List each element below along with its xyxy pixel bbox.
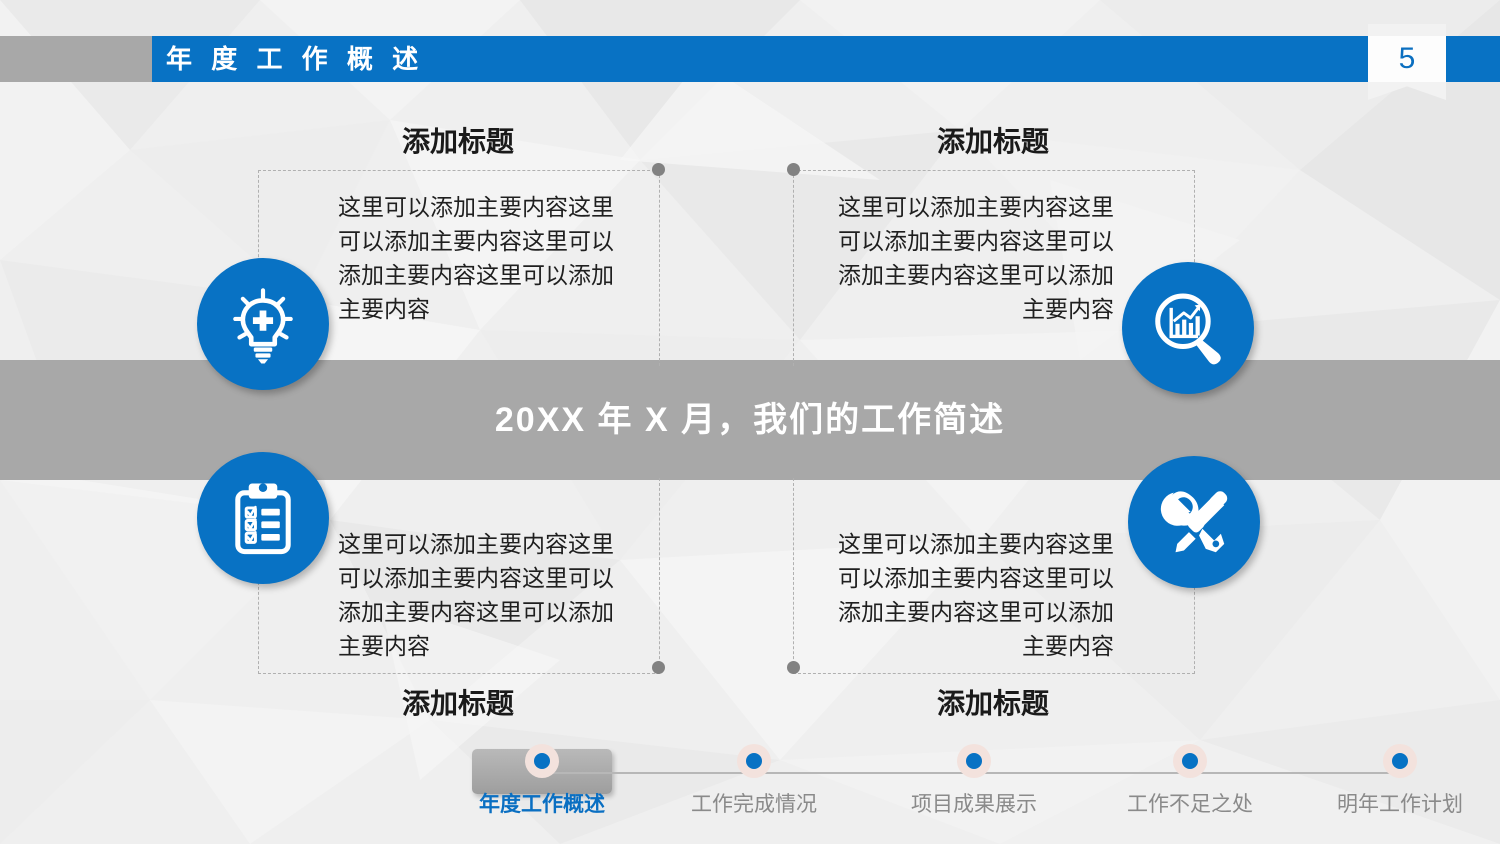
nav-label-3: 工作不足之处: [1100, 788, 1280, 818]
nav-item-2[interactable]: 项目成果展示: [884, 744, 1064, 818]
nav-item-0[interactable]: 年度工作概述: [452, 744, 632, 818]
quadrant-body-bottom-left: 这里可以添加主要内容这里可以添加主要内容这里可以添加主要内容这里可以添加主要内容: [338, 527, 634, 663]
wrench-screwdriver-icon: [1128, 456, 1260, 588]
nav-label-1: 工作完成情况: [664, 788, 844, 818]
nav-dot-1: [746, 753, 762, 769]
connector-dot-bottom-left: [652, 661, 665, 674]
quadrant-title-top-left: 添加标题: [258, 120, 658, 160]
connector-dot-top-left: [652, 163, 665, 176]
nav-dot-ring-4: [1383, 744, 1417, 778]
page-title: 年 度 工 作 概 述: [166, 36, 424, 82]
nav-dot-ring-2: [957, 744, 991, 778]
connector-dot-bottom-right: [787, 661, 800, 674]
nav-item-4[interactable]: 明年工作计划: [1310, 744, 1490, 818]
quadrant-body-top-right: 这里可以添加主要内容这里可以添加主要内容这里可以添加主要内容这里可以添加主要内容: [818, 190, 1114, 326]
header-gray-block: [0, 36, 152, 82]
quadrant-body-bottom-right: 这里可以添加主要内容这里可以添加主要内容这里可以添加主要内容这里可以添加主要内容: [818, 527, 1114, 663]
quadrant-body-top-left: 这里可以添加主要内容这里可以添加主要内容这里可以添加主要内容这里可以添加主要内容: [338, 190, 634, 326]
nav-dot-0: [534, 753, 550, 769]
nav-dot-ring-0: [525, 744, 559, 778]
slide-canvas: 年 度 工 作 概 述 5 20XX 年 X 月，我们的工作简述 添加标题 添加…: [0, 0, 1500, 844]
page-number: 5: [1368, 36, 1446, 82]
nav-dot-4: [1392, 753, 1408, 769]
nav-dot-ring-3: [1173, 744, 1207, 778]
magnifier-chart-icon: [1122, 262, 1254, 394]
nav-label-4: 明年工作计划: [1310, 788, 1490, 818]
clipboard-checklist-icon: [197, 452, 329, 584]
nav-label-2: 项目成果展示: [884, 788, 1064, 818]
nav-item-3[interactable]: 工作不足之处: [1100, 744, 1280, 818]
nav-dot-3: [1182, 753, 1198, 769]
connector-dot-top-right: [787, 163, 800, 176]
lightbulb-plus-icon: [197, 258, 329, 390]
nav-label-0: 年度工作概述: [452, 788, 632, 818]
quadrant-title-top-right: 添加标题: [793, 120, 1193, 160]
nav-dot-2: [966, 753, 982, 769]
nav-item-1[interactable]: 工作完成情况: [664, 744, 844, 818]
nav-dot-ring-1: [737, 744, 771, 778]
quadrant-title-bottom-left: 添加标题: [258, 682, 658, 722]
quadrant-title-bottom-right: 添加标题: [793, 682, 1193, 722]
